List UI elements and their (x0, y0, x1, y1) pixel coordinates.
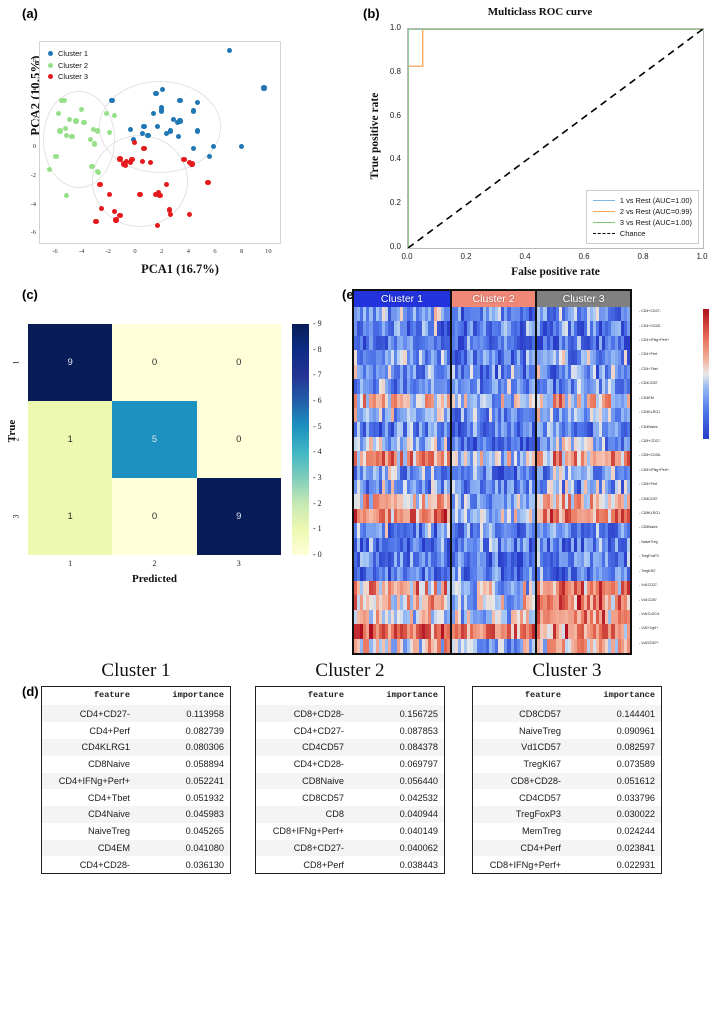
heatmap-cell (627, 336, 630, 350)
heatmap-cell (532, 365, 535, 379)
pca-plot-area: Cluster 1Cluster 2Cluster 3 (39, 41, 281, 244)
feature-name-cell: CD8CD57 (473, 705, 568, 722)
importance-value-cell: 0.038443 (350, 856, 445, 873)
colorbar-tick: ‑ 8 (313, 345, 322, 354)
heatmap-cell (447, 466, 450, 480)
table-row: NaiveTreg0.045265 (42, 823, 231, 840)
heatmap-cell (532, 523, 535, 537)
table-row: CD8CD570.042532 (256, 789, 445, 806)
pca-x-tick: -4 (77, 248, 87, 255)
colorbar-tick: ‑ 3 (313, 473, 322, 482)
colorbar-tick: ‑ 7 (313, 370, 322, 379)
pca-data-point (140, 159, 145, 164)
confusion-matrix-col-label: 1 (28, 559, 112, 568)
heatmap-cluster-headers: Cluster 1Cluster 2Cluster 3 (354, 291, 630, 307)
confusion-matrix-x-label: Predicted (28, 573, 281, 585)
table-row: CD4Naive0.045983 (42, 806, 231, 823)
pca-data-point (93, 219, 98, 224)
importance-column-header: importance (136, 687, 231, 706)
pca-x-axis-label: PCA1 (16.7%) (40, 262, 320, 277)
importance-value-cell: 0.040062 (350, 840, 445, 857)
colorbar-tick: ‑ 4 (313, 447, 322, 456)
heatmap-cell (447, 437, 450, 451)
pca-y-tick: 4 (24, 86, 36, 93)
heatmap-row-label: CD4+CD27- (639, 310, 661, 314)
heatmap-cell (532, 451, 535, 465)
table-row: CD8+IFNg+Perf+0.040149 (256, 823, 445, 840)
heatmap-cluster-header: Cluster 2 (452, 291, 535, 307)
importance-value-cell: 0.040149 (350, 823, 445, 840)
heatmap-cell (447, 567, 450, 581)
legend-dot-icon (48, 63, 53, 68)
heatmap-cell (532, 581, 535, 595)
table-row: CD4KLRG10.080306 (42, 739, 231, 756)
importance-value-cell: 0.045265 (136, 823, 231, 840)
pca-data-point (191, 146, 196, 151)
pca-data-point (195, 128, 200, 133)
importance-value-cell: 0.087853 (350, 722, 445, 739)
legend-line-icon (593, 233, 615, 234)
table-row: CD4+Perf0.023841 (473, 840, 662, 857)
importance-value-cell: 0.080306 (136, 739, 231, 756)
confusion-matrix-cell: 0 (197, 324, 281, 401)
pca-legend-item: Cluster 1 (48, 48, 88, 60)
heatmap-cell (627, 639, 630, 653)
importance-value-cell: 0.084378 (350, 739, 445, 756)
panel-c-label: (c) (22, 287, 38, 302)
table-row: CD4+CD27-0.087853 (256, 722, 445, 739)
pca-data-point (155, 223, 160, 228)
feature-name-cell: CD4CD57 (256, 739, 351, 756)
importance-value-cell: 0.156725 (350, 705, 445, 722)
heatmap-container: Cluster 1Cluster 2Cluster 3 (352, 289, 632, 655)
roc-x-tick: 0.0 (396, 252, 418, 261)
pca-data-point (157, 193, 162, 198)
table-row: TregKI670.073589 (473, 756, 662, 773)
heatmap-cell (627, 365, 630, 379)
pca-data-point (99, 206, 104, 211)
confusion-matrix-cell: 9 (197, 478, 281, 555)
feature-name-cell: CD4+CD28- (256, 756, 351, 773)
confusion-matrix-colorbar (292, 324, 309, 555)
table-row: CD4+Perf0.082739 (42, 722, 231, 739)
heatmap-cell (447, 408, 450, 422)
heatmap-cell (532, 552, 535, 566)
panel-d-feature-importance-tables: (d) Cluster 1featureimportanceCD4+CD27-0… (0, 660, 709, 1020)
feature-name-cell: CD8+Perf (256, 856, 351, 873)
feature-name-cell: CD4EM (42, 840, 137, 857)
heatmap-row-label: CD8KLRG1 (639, 512, 660, 516)
table-row: CD80.040944 (256, 806, 445, 823)
roc-title: Multiclass ROC curve (385, 6, 695, 18)
pca-y-tick: 0 (24, 143, 36, 150)
heatmap-cell (627, 494, 630, 508)
heatmap-cell (447, 394, 450, 408)
pca-legend-item: Cluster 2 (48, 60, 88, 72)
heatmap-cell (532, 336, 535, 350)
pca-data-point (81, 120, 86, 125)
heatmap-cell (447, 422, 450, 436)
roc-legend-label: Chance (620, 228, 645, 239)
table-row: CD8+CD27-0.040062 (256, 840, 445, 857)
feature-name-cell: CD8+IFNg+Perf+ (473, 856, 568, 873)
feature-table-column: Cluster 2featureimportanceCD8+CD28-0.156… (255, 660, 445, 874)
heatmap-cluster-block (354, 307, 450, 653)
table-row: CD8Naive0.058894 (42, 756, 231, 773)
legend-dot-icon (48, 74, 53, 79)
heatmap-row-label: NaiveTreg (639, 541, 658, 545)
table-row: CD4+CD27-0.113958 (42, 705, 231, 722)
importance-value-cell: 0.024244 (567, 823, 662, 840)
table-row: Vd1CD570.082597 (473, 739, 662, 756)
feature-name-cell: CD4Naive (42, 806, 137, 823)
pca-data-point (57, 128, 62, 133)
pca-data-point (97, 182, 102, 187)
confusion-matrix-cell: 0 (112, 478, 196, 555)
roc-legend-item: 3 vs Rest (AUC=1.00) (593, 217, 692, 228)
importance-value-cell: 0.045983 (136, 806, 231, 823)
panel-e-expression-heatmap: (e) Cluster 1Cluster 2Cluster 3 CD4+CD27… (340, 285, 709, 660)
heatmap-cell (447, 321, 450, 335)
heatmap-row-label: CD4KLRG1 (639, 411, 660, 415)
feature-name-cell: CD8 (256, 806, 351, 823)
importance-value-cell: 0.082597 (567, 739, 662, 756)
confusion-matrix-cell: 9 (28, 324, 112, 401)
importance-value-cell: 0.030022 (567, 806, 662, 823)
roc-legend: 1 vs Rest (AUC=1.00)2 vs Rest (AUC=0.99)… (586, 190, 699, 244)
heatmap-row-label: CD4Naive (639, 426, 658, 430)
pca-legend-label: Cluster 1 (58, 48, 88, 60)
pca-data-point (191, 108, 196, 113)
heatmap-cell (627, 451, 630, 465)
pca-data-point (205, 180, 210, 185)
feature-name-cell: CD4+CD27- (42, 705, 137, 722)
heatmap-cell (627, 581, 630, 595)
confusion-matrix-cell: 1 (28, 478, 112, 555)
heatmap-row-label: CD8+Perf (639, 483, 657, 487)
feature-name-cell: Vd1CD57 (473, 739, 568, 756)
colorbar-tick: ‑ 6 (313, 396, 322, 405)
heatmap-cell (627, 394, 630, 408)
pca-data-point (195, 100, 200, 105)
feature-name-cell: CD4CD57 (473, 789, 568, 806)
heatmap-row-label: CD4CD57 (639, 382, 658, 386)
heatmap-cell (627, 321, 630, 335)
heatmap-cell (447, 494, 450, 508)
pca-data-point (141, 146, 146, 151)
heatmap-cell (447, 365, 450, 379)
pca-data-point (63, 126, 68, 131)
confusion-matrix-col-label: 2 (112, 559, 196, 568)
importance-value-cell: 0.056440 (350, 773, 445, 790)
panel-b-roc-curve: (b) Multiclass ROC curve 1 vs Rest (AUC=… (345, 0, 709, 285)
feature-importance-table: featureimportanceCD8CD570.144401NaiveTre… (472, 686, 662, 874)
pca-data-point (64, 193, 69, 198)
table-row: CD4CD570.033796 (473, 789, 662, 806)
heatmap-row-label: CD8CD57 (639, 498, 658, 502)
heatmap-row-label: CD8+IFNg+Perf+ (639, 469, 669, 473)
heatmap-cell (532, 624, 535, 638)
panel-c-confusion-matrix: (c) 900150109 123123 ‑ 9‑ 8‑ 7‑ 6‑ 5‑ 4‑… (0, 285, 345, 605)
confusion-matrix-y-label: True (6, 371, 18, 491)
legend-line-icon (593, 211, 615, 212)
pca-x-tick: 8 (237, 248, 247, 255)
heatmap-cell (447, 350, 450, 364)
heatmap-cell (447, 379, 450, 393)
heatmap-cell (627, 480, 630, 494)
feature-name-cell: CD4+CD28- (42, 856, 137, 873)
importance-value-cell: 0.042532 (350, 789, 445, 806)
pca-legend-label: Cluster 2 (58, 60, 88, 72)
confusion-matrix-grid: 900150109 (28, 324, 281, 555)
heatmap-cell (627, 437, 630, 451)
heatmap-row-label: CD4+Perf (639, 353, 657, 357)
importance-value-cell: 0.058894 (136, 756, 231, 773)
heatmap-cell (447, 307, 450, 321)
heatmap-row-label: CD4+CD28- (639, 325, 661, 329)
feature-name-cell: CD4+Tbet (42, 789, 137, 806)
importance-value-cell: 0.052241 (136, 773, 231, 790)
feature-column-header: feature (256, 687, 351, 706)
importance-value-cell: 0.082739 (136, 722, 231, 739)
heatmap-row-label: CD8+CD28- (639, 454, 661, 458)
roc-legend-label: 1 vs Rest (AUC=1.00) (620, 195, 692, 206)
feature-table-column: Cluster 3featureimportanceCD8CD570.14440… (472, 660, 662, 874)
pca-data-point (79, 107, 84, 112)
roc-legend-item: 1 vs Rest (AUC=1.00) (593, 195, 692, 206)
colorbar-tick: ‑ 1 (313, 524, 322, 533)
colorbar-tick: ‑ 9 (313, 319, 322, 328)
pca-data-point (187, 212, 192, 217)
pca-data-point (141, 124, 146, 129)
confusion-matrix-col-label: 3 (197, 559, 281, 568)
panel-a-label: (a) (22, 6, 38, 21)
heatmap-cell (447, 581, 450, 595)
heatmap-cell (532, 480, 535, 494)
heatmap-cell (627, 307, 630, 321)
heatmap-row-label: Vd1Cx3Cr1 (639, 613, 660, 617)
roc-legend-label: 3 vs Rest (AUC=1.00) (620, 217, 692, 228)
feature-table-title: Cluster 3 (472, 660, 662, 682)
feature-name-cell: CD8+IFNg+Perf+ (256, 823, 351, 840)
heatmap-cell (447, 552, 450, 566)
pca-x-tick: 0 (130, 248, 140, 255)
heatmap-row-label: Vd2CD57+ (639, 642, 659, 646)
heatmap-cell (447, 523, 450, 537)
table-row: NaiveTreg0.090961 (473, 722, 662, 739)
heatmap-cell (447, 336, 450, 350)
table-row: CD4+CD28-0.069797 (256, 756, 445, 773)
feature-importance-table: featureimportanceCD8+CD28-0.156725CD4+CD… (255, 686, 445, 874)
feature-name-cell: CD4+Perf (473, 840, 568, 857)
pca-data-point (153, 91, 158, 96)
roc-x-tick: 0.6 (573, 252, 595, 261)
heatmap-cell (627, 595, 630, 609)
roc-x-tick: 1.0 (691, 252, 709, 261)
confusion-matrix-row-label: 1 (12, 361, 21, 365)
importance-value-cell: 0.036130 (136, 856, 231, 873)
table-row: CD4+IFNg+Perf+0.052241 (42, 773, 231, 790)
heatmap-body (354, 307, 630, 653)
heatmap-cell (532, 567, 535, 581)
heatmap-cell (532, 466, 535, 480)
colorbar-tick: ‑ 0 (313, 550, 322, 559)
heatmap-row-label: TregKi67 (639, 570, 656, 574)
confusion-matrix-cell: 5 (112, 401, 196, 478)
legend-line-icon (593, 200, 615, 201)
importance-value-cell: 0.022931 (567, 856, 662, 873)
pca-data-point (239, 144, 244, 149)
confusion-matrix-row-label: 3 (12, 515, 21, 519)
heatmap-row-label: CD8+CD27- (639, 440, 661, 444)
importance-value-cell: 0.073589 (567, 756, 662, 773)
pca-data-point (67, 117, 72, 122)
pca-data-point (164, 182, 169, 187)
roc-x-tick: 0.4 (514, 252, 536, 261)
heatmap-cell (532, 307, 535, 321)
heatmap-cell (532, 437, 535, 451)
pca-x-tick: 10 (263, 248, 273, 255)
heatmap-cell (532, 494, 535, 508)
heatmap-cell (627, 422, 630, 436)
heatmap-row-label: CD4EM (639, 397, 654, 401)
feature-name-cell: TregKI67 (473, 756, 568, 773)
importance-value-cell: 0.144401 (567, 705, 662, 722)
heatmap-cell (532, 408, 535, 422)
roc-x-tick: 0.2 (455, 252, 477, 261)
importance-value-cell: 0.023841 (567, 840, 662, 857)
heatmap-cell (447, 480, 450, 494)
pca-data-point (168, 212, 173, 217)
heatmap-cluster-header: Cluster 3 (537, 291, 630, 307)
pca-data-point (159, 108, 164, 113)
heatmap-cell (447, 451, 450, 465)
pca-x-tick: -6 (50, 248, 60, 255)
importance-column-header: importance (350, 687, 445, 706)
feature-name-cell: CD8+CD27- (256, 840, 351, 857)
table-row: CD8+Perf0.038443 (256, 856, 445, 873)
roc-x-tick: 0.8 (632, 252, 654, 261)
pca-x-tick: 6 (210, 248, 220, 255)
roc-legend-item: 2 vs Rest (AUC=0.99) (593, 206, 692, 217)
heatmap-cell (532, 422, 535, 436)
feature-name-cell: NaiveTreg (42, 823, 137, 840)
pca-data-point (107, 192, 112, 197)
table-row: CD4+CD28-0.036130 (42, 856, 231, 873)
pca-data-point (175, 120, 180, 125)
feature-name-cell: CD8+CD28- (256, 705, 351, 722)
roc-y-tick: 0.0 (375, 242, 401, 251)
pca-data-point (181, 157, 186, 162)
heatmap-cell (447, 624, 450, 638)
pca-data-point (137, 192, 142, 197)
feature-name-cell: CD8CD57 (256, 789, 351, 806)
table-row: CD4CD570.084378 (256, 739, 445, 756)
feature-name-cell: CD4+Perf (42, 722, 137, 739)
heatmap-row-label: Vd1CD57 (639, 599, 657, 603)
importance-value-cell: 0.040944 (350, 806, 445, 823)
heatmap-cell (447, 595, 450, 609)
heatmap-cell (532, 595, 535, 609)
table-row: CD4+Tbet0.051932 (42, 789, 231, 806)
importance-value-cell: 0.090961 (567, 722, 662, 739)
feature-name-cell: NaiveTreg (473, 722, 568, 739)
pca-y-tick: -6 (24, 229, 36, 236)
roc-x-axis-label: False positive rate (407, 266, 704, 278)
pca-data-point (261, 85, 266, 90)
confusion-matrix-cell: 0 (197, 401, 281, 478)
pca-data-point (207, 154, 212, 159)
pca-data-point (112, 113, 117, 118)
feature-name-cell: CD8Naive (42, 756, 137, 773)
importance-column-header: importance (567, 687, 662, 706)
table-row: CD8Naive0.056440 (256, 773, 445, 790)
pca-x-tick: 4 (183, 248, 193, 255)
heatmap-cell (532, 509, 535, 523)
roc-y-tick: 1.0 (375, 23, 401, 32)
pca-legend: Cluster 1Cluster 2Cluster 3 (48, 48, 88, 83)
colorbar-tick: ‑ 2 (313, 499, 322, 508)
feature-column-header: feature (42, 687, 137, 706)
pca-legend-item: Cluster 3 (48, 71, 88, 83)
pca-data-point (227, 48, 232, 53)
table-row: CD8+CD28-0.051612 (473, 773, 662, 790)
heatmap-cluster-header: Cluster 1 (354, 291, 450, 307)
heatmap-row-label: CD4+IFNg+Perf+ (639, 339, 669, 343)
importance-value-cell: 0.051612 (567, 773, 662, 790)
table-row: TregFoxP30.030022 (473, 806, 662, 823)
feature-name-cell: CD8Naive (256, 773, 351, 790)
legend-dot-icon (48, 51, 53, 56)
heatmap-cell (627, 624, 630, 638)
heatmap-row-labels: CD4+CD27-CD4+CD28-CD4+IFNg+Perf+CD4+Perf… (636, 305, 698, 651)
feature-table-title: Cluster 2 (255, 660, 445, 682)
heatmap-cell (627, 552, 630, 566)
feature-table-title: Cluster 1 (41, 660, 231, 682)
feature-name-cell: MemTreg (473, 823, 568, 840)
pca-data-point (73, 118, 78, 123)
heatmap-cell (627, 523, 630, 537)
table-row: MemTreg0.024244 (473, 823, 662, 840)
pca-data-point (211, 144, 216, 149)
pca-data-point (107, 130, 112, 135)
pca-data-point (95, 128, 100, 133)
heatmap-cell (627, 567, 630, 581)
heatmap-cell (627, 509, 630, 523)
pca-data-point (92, 141, 97, 146)
roc-y-axis-label: True positive rate (369, 46, 381, 226)
importance-value-cell: 0.051932 (136, 789, 231, 806)
importance-value-cell: 0.033796 (567, 789, 662, 806)
heatmap-cell (532, 350, 535, 364)
heatmap-cell (627, 466, 630, 480)
heatmap-cluster-block (452, 307, 535, 653)
heatmap-cell (447, 610, 450, 624)
pca-legend-label: Cluster 3 (58, 71, 88, 83)
table-row: CD8+CD28-0.156725 (256, 705, 445, 722)
heatmap-cell (627, 610, 630, 624)
legend-line-icon (593, 222, 615, 223)
heatmap-row-label: CD4+Tbet (639, 368, 658, 372)
pca-data-point (145, 133, 150, 138)
pca-data-point (189, 161, 194, 166)
pca-cluster-ellipse (92, 135, 188, 227)
feature-name-cell: CD4+IFNg+Perf+ (42, 773, 137, 790)
feature-column-header: feature (473, 687, 568, 706)
roc-legend-label: 2 vs Rest (AUC=0.99) (620, 206, 692, 217)
feature-table-column: Cluster 1featureimportanceCD4+CD27-0.113… (41, 660, 231, 874)
heatmap-row-label: CD8Naive (639, 526, 658, 530)
